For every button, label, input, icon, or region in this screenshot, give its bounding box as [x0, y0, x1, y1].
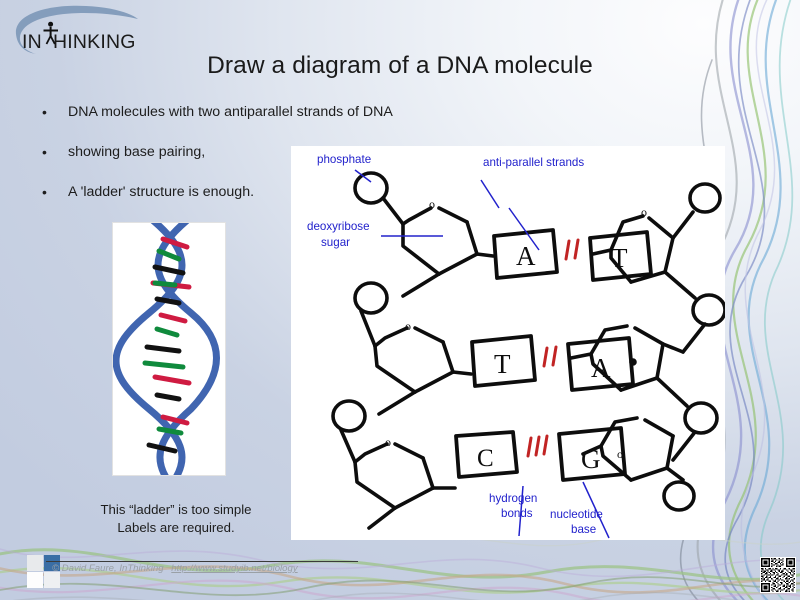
label-nucleotide-1: nucleotide	[550, 508, 603, 521]
base-letter: T	[611, 243, 628, 273]
helix-caption: This “ladder” is too simple Labels are r…	[52, 501, 300, 537]
qr-code[interactable]	[760, 557, 796, 593]
svg-text:o: o	[385, 435, 391, 449]
label-phosphate: phosphate	[317, 153, 371, 166]
bullet-text: showing base pairing,	[68, 144, 205, 160]
base-letter: C	[477, 445, 494, 472]
dna-hand-drawn-diagram: o o	[291, 146, 725, 540]
label-anti-parallel-strands: anti-parallel strands	[483, 156, 584, 169]
logo-square-top-left	[27, 555, 43, 571]
base-box-T-right: T	[590, 232, 651, 280]
svg-text:o: o	[429, 197, 435, 211]
base-letter: G	[581, 444, 601, 474]
base-letter: T	[494, 349, 511, 379]
logo-text-hinking: HINKING	[53, 31, 136, 53]
list-item: • DNA molecules with two antiparallel st…	[34, 104, 464, 122]
logo-text-in: IN	[22, 31, 42, 53]
phosphate-circle-right-4	[664, 482, 694, 510]
phosphate-circle-left-3	[333, 401, 365, 431]
footer-credit: © David Faure, InThinking http://www.stu…	[52, 563, 382, 574]
bullet-marker-icon: •	[42, 104, 47, 122]
caption-line-2: Labels are required.	[52, 519, 300, 537]
base-boxes: A T T	[456, 230, 651, 480]
label-nucleotide-2: base	[571, 523, 596, 536]
bullet-text: DNA molecules with two antiparallel stra…	[68, 104, 393, 120]
base-letter: A	[591, 353, 611, 383]
phosphate-circle-right-3	[685, 403, 717, 433]
base-box-A-left: A	[494, 230, 557, 278]
footer-url[interactable]: http://www.studyib.net/biology	[171, 563, 297, 574]
phosphate-circle-left-2	[355, 283, 387, 313]
svg-text:o: o	[405, 319, 411, 333]
slide-canvas: IN HINKING Draw a diagram of a DNA molec…	[0, 0, 800, 600]
footer-copyright: © David Faure, InThinking	[52, 563, 164, 574]
label-hydrogen-2: bonds	[501, 507, 533, 520]
hydrogen-bond-marks-3	[528, 436, 547, 456]
svg-text:o: o	[641, 205, 647, 219]
phosphate-circle-right-2	[693, 295, 725, 325]
label-leader-lines	[355, 170, 609, 538]
label-hydrogen-1: hydrogen	[489, 492, 537, 505]
qr-code-icon	[760, 557, 796, 593]
diagram-labels: phosphate deoxyribose sugar anti-paralle…	[307, 153, 603, 536]
hydrogen-bond-marks-1	[566, 240, 578, 259]
bullet-marker-icon: •	[42, 184, 47, 202]
logo-square-bottom-left	[27, 572, 43, 588]
base-box-T-left: T	[472, 336, 535, 386]
logo-square-bottom-right	[44, 572, 60, 588]
base-box-C-left: C	[456, 432, 517, 477]
bullet-text: A 'ladder' structure is enough.	[68, 184, 254, 200]
label-deoxyribose-1: deoxyribose	[307, 220, 370, 233]
base-box-G-right: G	[559, 428, 625, 480]
dna-helix-image	[112, 222, 226, 476]
label-deoxyribose-2: sugar	[321, 236, 350, 249]
dna-double-helix-icon	[113, 223, 225, 475]
base-box-A-right: A	[568, 338, 633, 390]
hydrogen-bond-marks-2	[544, 347, 556, 366]
footer-divider	[46, 561, 358, 562]
page-title: Draw a diagram of a DNA molecule	[120, 52, 680, 80]
phosphate-circle-right-1	[690, 184, 720, 212]
base-letter: A	[516, 241, 536, 271]
bullet-marker-icon: •	[42, 144, 47, 162]
diagram-ink-strokes: o o	[333, 173, 725, 528]
caption-line-1: This “ladder” is too simple	[52, 501, 300, 519]
